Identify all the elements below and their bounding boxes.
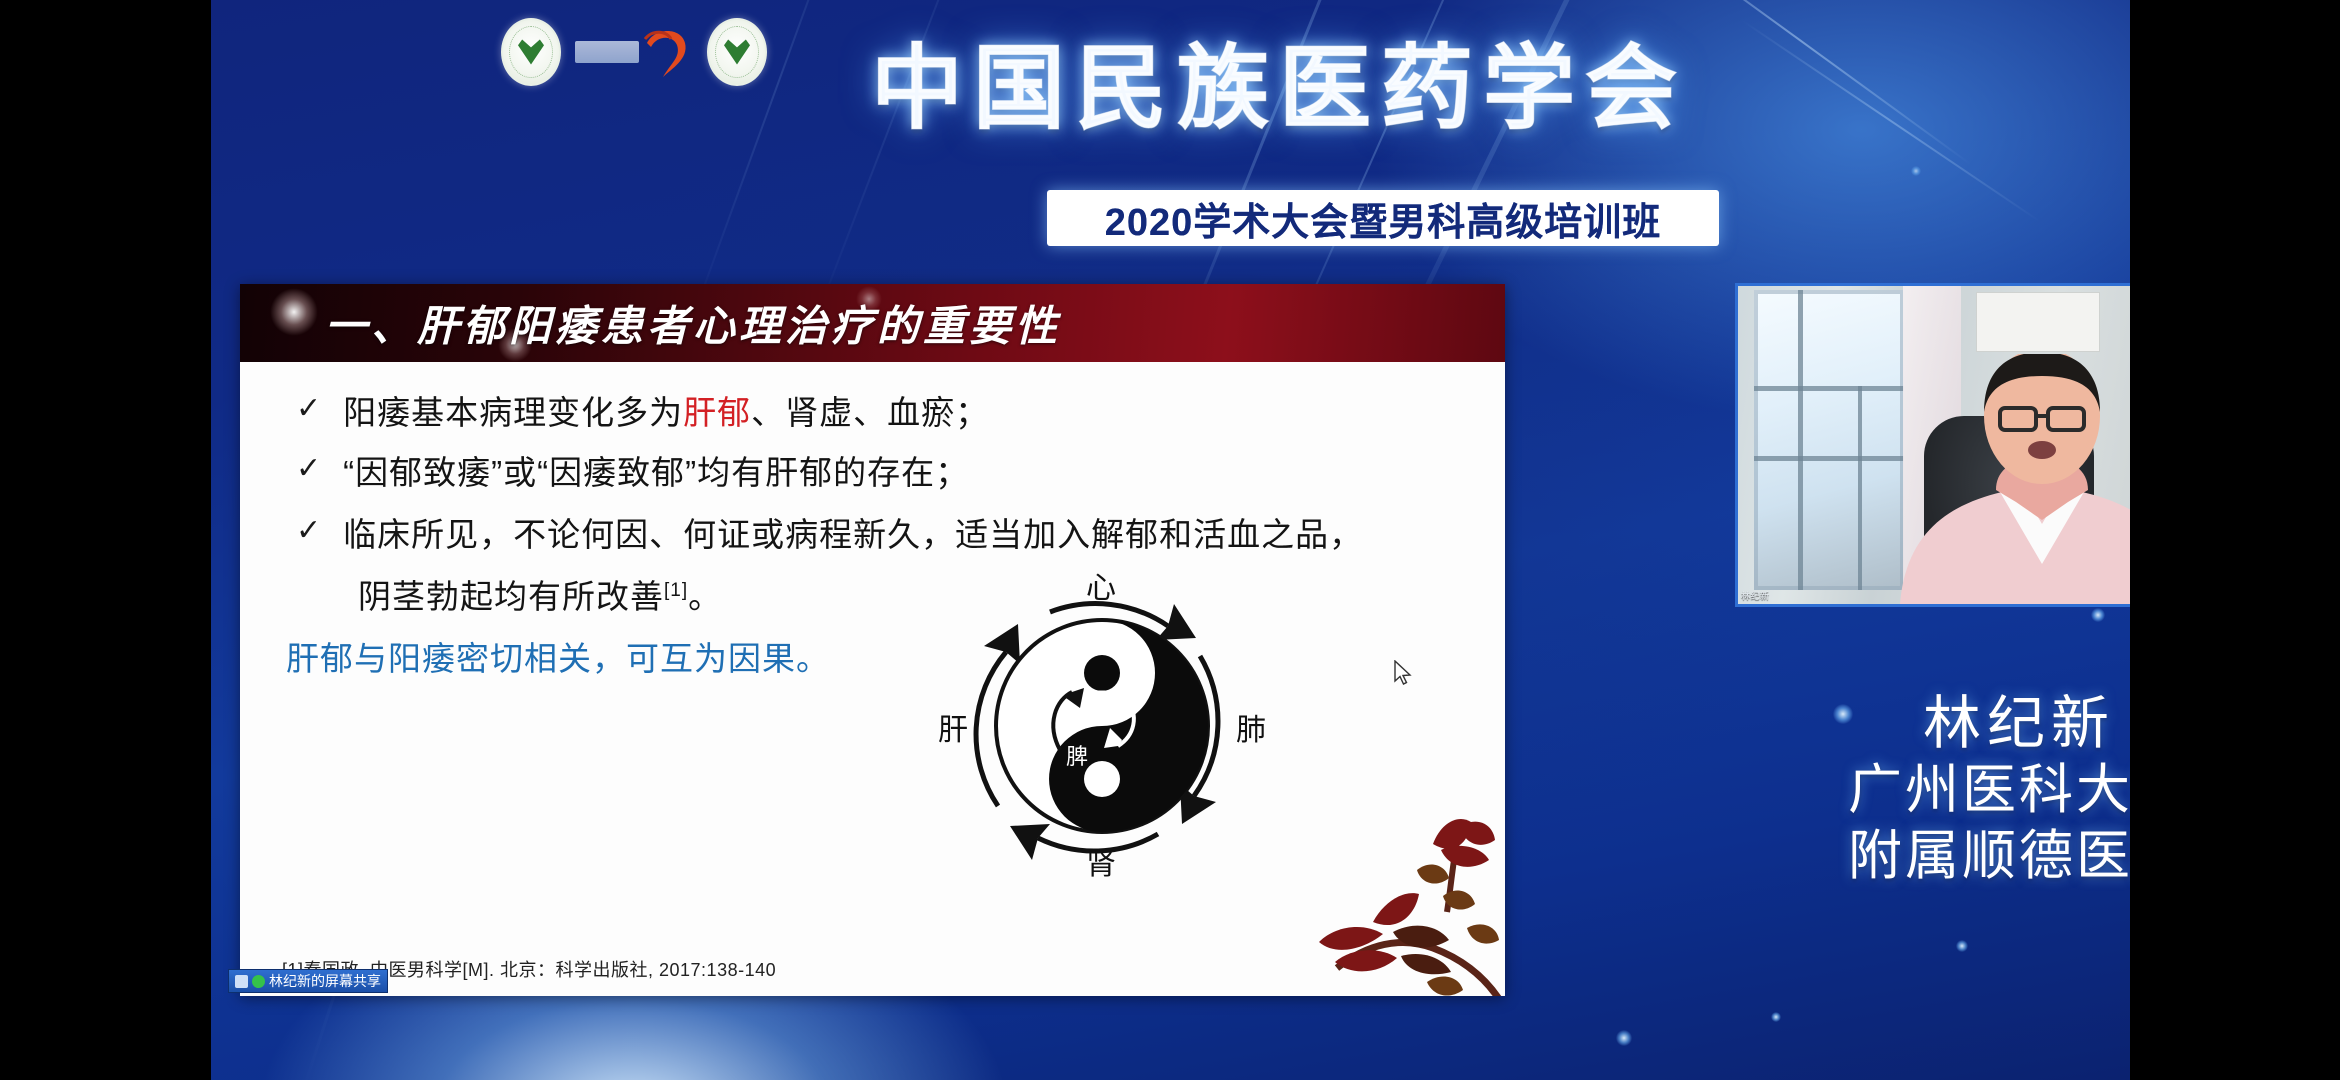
- svg-text:肾: 肾: [1086, 847, 1116, 882]
- speaker-org-line2: 附属顺德医院: [1735, 824, 2130, 890]
- screen-share-indicator[interactable]: 林纪新的屏幕共享: [228, 969, 388, 993]
- svg-text:胃: 胃: [1086, 689, 1108, 714]
- check-icon: ✓: [296, 510, 321, 546]
- svg-text:脾: 脾: [1066, 745, 1088, 770]
- association-seal-left-icon: [501, 18, 561, 86]
- heart-swirl-icon: [641, 25, 693, 79]
- bokeh-particle: [1911, 166, 1921, 176]
- speaker-info-block: 林纪新 广州医科大学 附属顺德医院: [1735, 690, 2130, 890]
- slide-bullet-3: ✓ 临床所见，不论何因、何证或病程新久，适当加入解郁和活血之品，: [296, 510, 1363, 560]
- slide-header-bar: 一、肝郁阳痿患者心理治疗的重要性: [240, 284, 1505, 362]
- sparkle-icon: [270, 288, 318, 336]
- check-icon: ✓: [296, 448, 321, 484]
- bokeh-particle: [1616, 1030, 1632, 1046]
- video-wall-poster: [1976, 292, 2100, 352]
- floral-ornament-icon: [1301, 816, 1505, 996]
- bokeh-particle: [2091, 608, 2105, 622]
- screen-share-label: 林纪新的屏幕共享: [269, 971, 381, 991]
- slide-bullet-1: ✓ 阳痿基本病理变化多为肝郁、肾虚、血瘀；: [296, 388, 989, 438]
- microphone-icon: [252, 975, 265, 988]
- hospital-wordmark: [575, 41, 639, 63]
- slide-bullet-1-text: 阳痿基本病理变化多为肝郁、肾虚、血瘀；: [343, 388, 989, 438]
- svg-text:肝: 肝: [938, 713, 968, 748]
- svg-text:心: 心: [1086, 571, 1116, 606]
- monitor-icon: [235, 975, 248, 988]
- slide-bullet-3-text-line2: 阴茎勃起均有所改善[1]。: [358, 570, 722, 618]
- slide-bullet-3-text: 临床所见，不论何因、何证或病程新久，适当加入解郁和活血之品，: [343, 510, 1363, 560]
- event-title: 中国民族医药学会: [871, 14, 1687, 147]
- association-seal-right-icon: [707, 18, 767, 86]
- bokeh-particle: [1956, 940, 1968, 952]
- svg-text:肺: 肺: [1236, 713, 1266, 748]
- video-window-light: [1754, 290, 1904, 590]
- event-subtitle-plate: 2020学术大会暨男科高级培训班: [1047, 190, 1719, 246]
- slide-body: ✓ 阳痿基本病理变化多为肝郁、肾虚、血瘀； ✓ “因郁致痿”或“因痿致郁”均有肝…: [240, 362, 1505, 996]
- mouse-pointer-icon: [1393, 660, 1415, 688]
- screen-share-stage: 中国民族医药学会 2020学术大会暨男科高级培训班: [0, 0, 2340, 1080]
- slide-title: 一、肝郁阳痿患者心理治疗的重要性: [325, 293, 1061, 354]
- slide-conclusion: 肝郁与阳痿密切相关，可互为因果。: [286, 632, 830, 680]
- highlight-term: 肝郁: [683, 394, 751, 431]
- letterbox-right: [2130, 0, 2340, 1080]
- hospital-heart-logo-icon: [575, 25, 693, 79]
- light-streak: [1741, 20, 2041, 223]
- bokeh-particle: [1771, 1012, 1781, 1022]
- speaker-name: 林纪新: [1735, 690, 2130, 758]
- slide-bullet-2: ✓ “因郁致痿”或“因痿致郁”均有肝郁的存在；: [296, 448, 969, 498]
- slide-bullet-2-text: “因郁致痿”或“因痿致郁”均有肝郁的存在；: [343, 448, 969, 498]
- video-participant-figure: [1892, 354, 2130, 604]
- participant-video-tile[interactable]: 林纪新: [1735, 283, 2130, 607]
- video-name-tag: 林纪新: [1741, 589, 1770, 602]
- speaker-org-line1: 广州医科大学: [1735, 758, 2130, 824]
- footnote-ref: [1]: [664, 580, 688, 601]
- shared-slide[interactable]: 一、肝郁阳痿患者心理治疗的重要性 ✓ 阳痿基本病理变化多为肝郁、肾虚、血瘀； ✓…: [240, 284, 1505, 996]
- logo-row: [501, 18, 767, 86]
- letterbox-left: [0, 0, 211, 1080]
- check-icon: ✓: [296, 388, 321, 424]
- event-subtitle: 2020学术大会暨男科高级培训班: [1105, 191, 1662, 246]
- yin-yang-five-organs-diagram: 心 肺 肾 肝 胃 脾: [900, 560, 1304, 890]
